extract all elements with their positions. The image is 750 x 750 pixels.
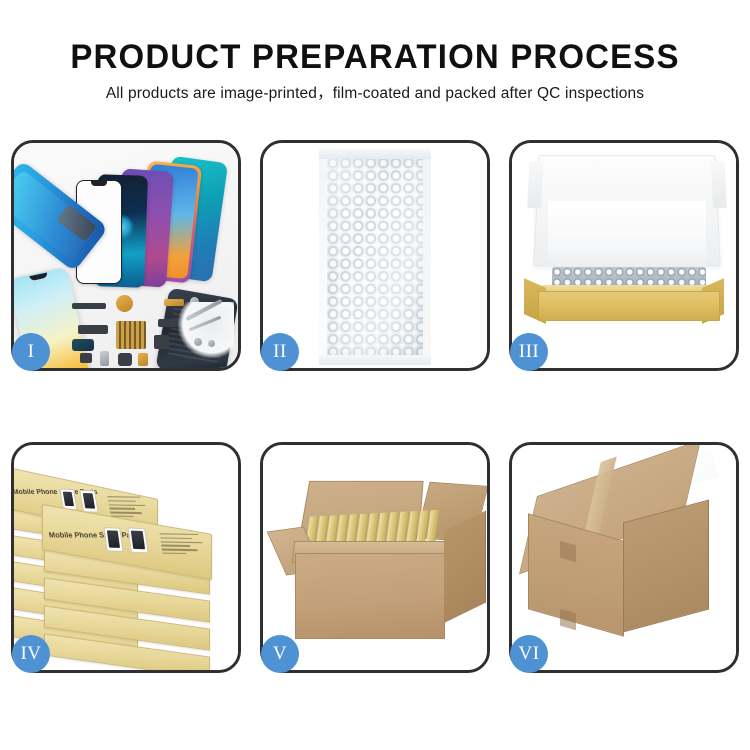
bag-seal-top-icon [319,149,431,159]
step-image-sealed-carton [512,445,736,670]
header: PRODUCT PREPARATION PROCESS All products… [0,0,750,103]
kraft-box-front-icon [538,291,720,321]
step-panel-6[interactable]: VI [509,442,739,673]
step-badge-4: IV [12,635,50,673]
carton-side-face-icon [444,511,486,623]
step-image-inner-box-packing [512,143,736,368]
bag-seal-bottom-icon [319,355,431,365]
page-subtitle: All products are image-printed，film-coat… [0,85,750,103]
step-badge-6: VI [510,635,548,673]
bubble-wrap-icon [327,157,423,355]
step-badge-3: III [510,333,548,371]
step-panel-3[interactable]: III [509,140,739,371]
step-panel-4[interactable]: Mobile Phone Spare Parts Mobile Phone Sp… [11,442,241,673]
steps-grid: I II III [11,140,739,685]
kraft-box-stack: Mobile Phone Spare Parts Mobile Phone Sp… [14,463,238,663]
chip-array-icon [116,321,146,349]
step-image-products-overview [14,143,238,368]
step-badge-5: V [261,635,299,673]
step-image-stacked-inner-boxes: Mobile Phone Spare Parts Mobile Phone Sp… [14,445,238,670]
carton-right-face-icon [623,499,709,632]
box-spec-lines [159,533,206,557]
foam-sheet-icon [548,201,706,267]
carton-front-face-icon [295,553,445,639]
step-panel-2[interactable]: II [260,140,490,371]
step-badge-1: I [12,333,50,371]
step-image-carton-filling [263,445,487,670]
carton-tab-lower-icon [560,609,576,631]
step-image-bubble-wrap [263,143,487,368]
page-title: PRODUCT PREPARATION PROCESS [11,40,739,74]
product-preparation-infographic: PRODUCT PREPARATION PROCESS All products… [0,0,750,750]
repair-tools-icon [178,302,234,358]
step-panel-5[interactable]: V [260,442,490,673]
step-badge-2: II [261,333,299,371]
step-panel-1[interactable]: I [11,140,241,371]
